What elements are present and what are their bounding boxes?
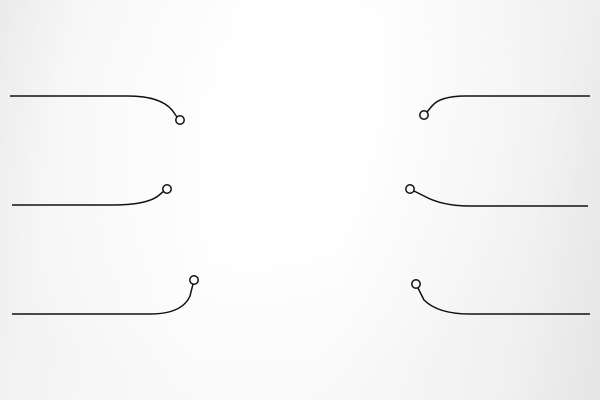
- callout-connector-lines: [0, 0, 600, 400]
- infographic-canvas: 12 1 2 3 4 5 6 7 8 9 10 11: [0, 0, 600, 400]
